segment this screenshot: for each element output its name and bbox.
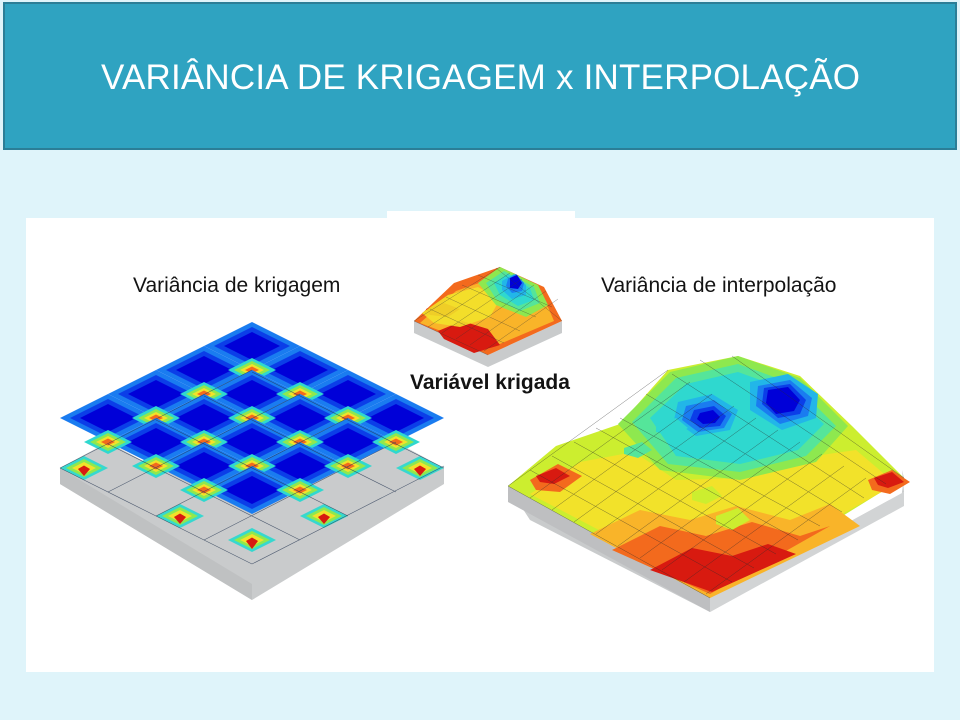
label-kriged-variable: Variável krigada bbox=[410, 371, 570, 395]
kriging-variance-surface bbox=[46, 318, 466, 614]
label-kriging-variance: Variância de krigagem bbox=[133, 274, 340, 298]
content-panel: Variância de krigagem Variância de inter… bbox=[26, 218, 934, 672]
label-interpolation-variance: Variância de interpolação bbox=[601, 274, 836, 298]
title-banner: VARIÂNCIA DE KRIGAGEM x INTERPOLAÇÃO bbox=[3, 2, 957, 150]
page-title: VARIÂNCIA DE KRIGAGEM x INTERPOLAÇÃO bbox=[101, 56, 860, 100]
slide: VARIÂNCIA DE KRIGAGEM x INTERPOLAÇÃO bbox=[0, 0, 960, 720]
